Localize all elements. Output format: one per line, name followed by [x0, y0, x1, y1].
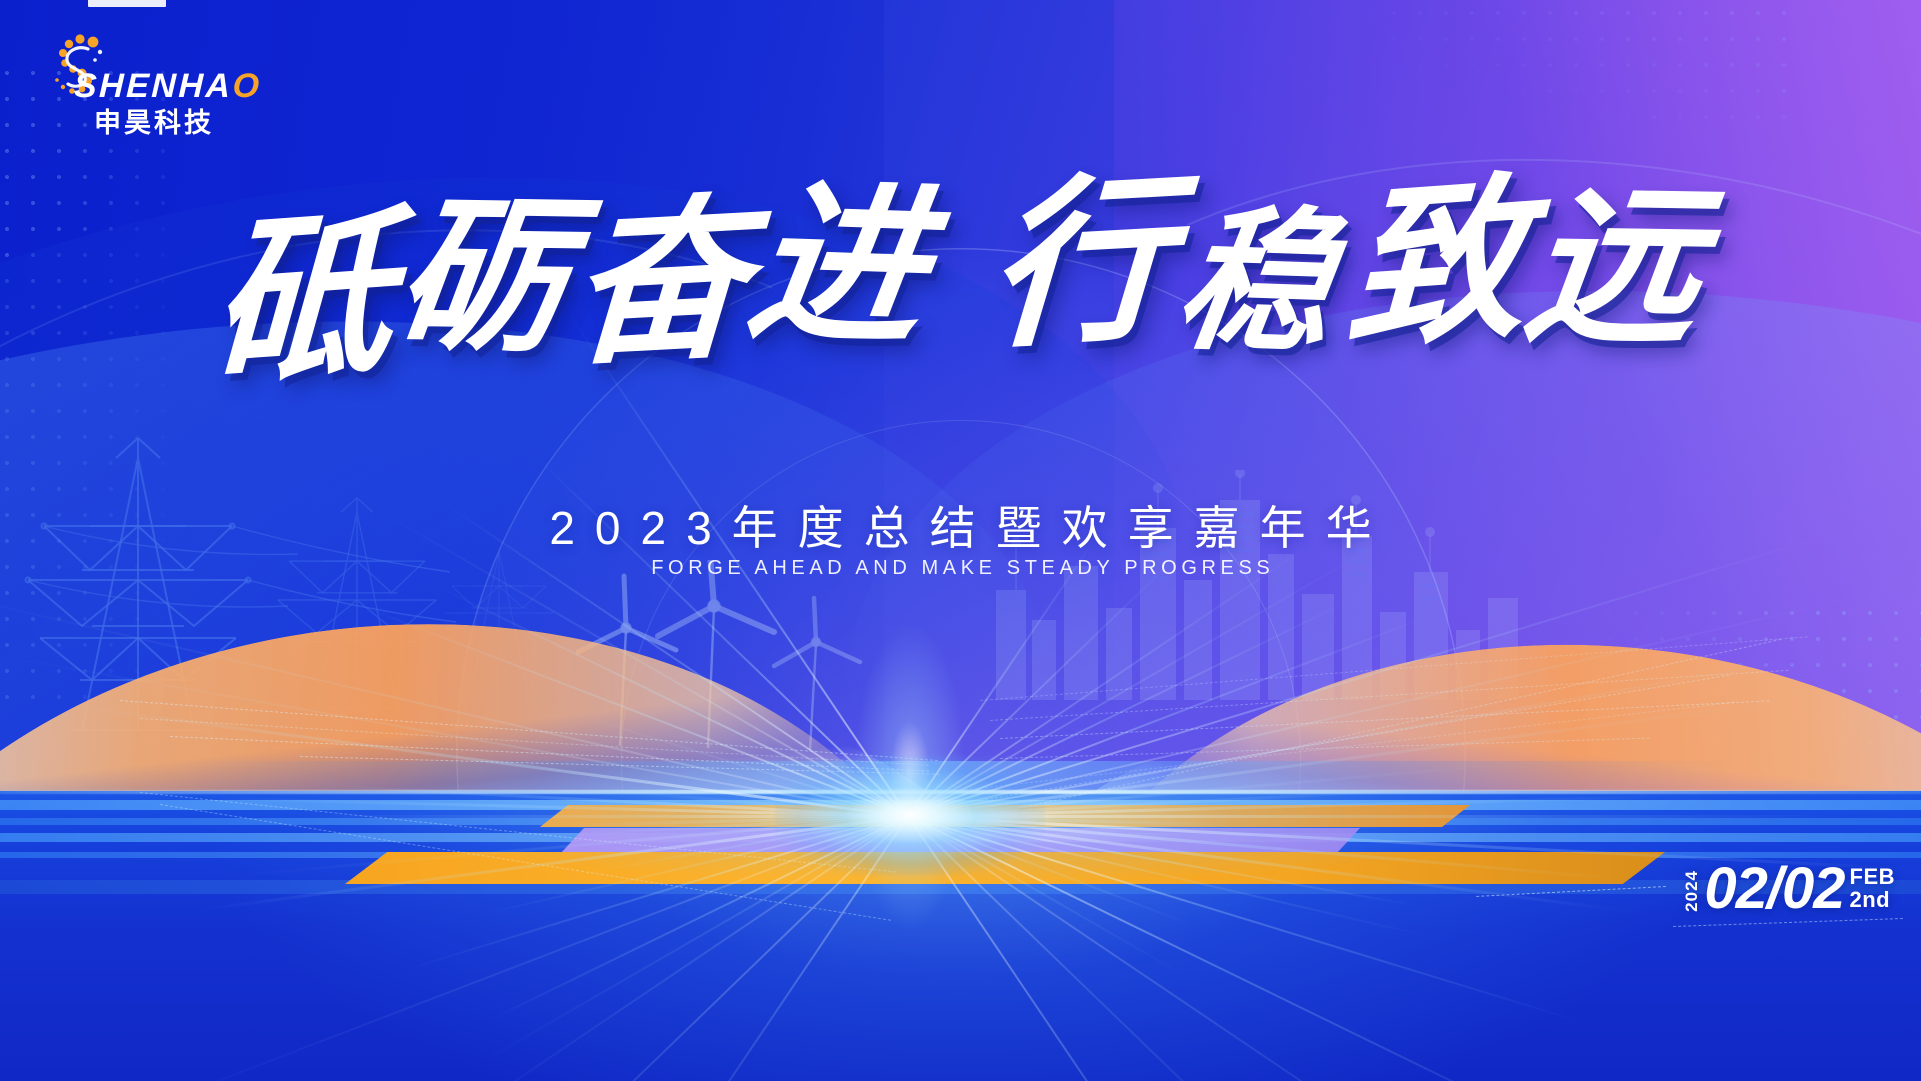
headline-char: 奋	[565, 187, 757, 386]
date-month-abbr: FEB	[1850, 866, 1896, 888]
headline-char: 致	[1343, 166, 1534, 370]
top-white-chip	[88, 0, 166, 7]
brand-logo-chinese: 申昊科技	[94, 101, 214, 140]
light-ray	[908, 815, 1845, 818]
headline-char: 砥	[208, 198, 400, 404]
page-title: 砥砺奋进行稳致远	[0, 164, 1921, 387]
date-month-day: FEB 2nd	[1850, 866, 1896, 911]
date-year: 2024	[1683, 870, 1700, 912]
headline-char: 进	[738, 172, 943, 365]
subtitle-english: FORGE AHEAD AND MAKE STEADY PROGRESS	[0, 557, 1921, 580]
headline-char: 行	[983, 164, 1181, 369]
event-banner: SHENHAO 申昊科技 砥砺奋进行稳致远 2023年度总结暨欢享嘉年华 FOR…	[0, 0, 1921, 1081]
light-burst-core	[775, 755, 1045, 875]
brand-logo-english-text: SHENHA	[73, 67, 233, 105]
headline-char: 远	[1516, 176, 1716, 365]
subtitle-chinese: 2023年度总结暨欢享嘉年华	[0, 492, 1921, 558]
headline-gap	[924, 330, 988, 331]
brand-logo[interactable]: SHENHAO 申昊科技	[52, 33, 282, 129]
date-day-ordinal: 2nd	[1850, 889, 1896, 911]
dot-grid-pattern-top-right	[1381, 0, 1801, 120]
headline-char: 稳	[1167, 199, 1350, 371]
event-date-badge: 2024 02/02 FEB 2nd	[1683, 862, 1895, 915]
date-numeric: 02/02	[1704, 862, 1844, 915]
headline-char: 砺	[386, 189, 580, 372]
brand-logo-accent-letter: O	[232, 67, 262, 105]
